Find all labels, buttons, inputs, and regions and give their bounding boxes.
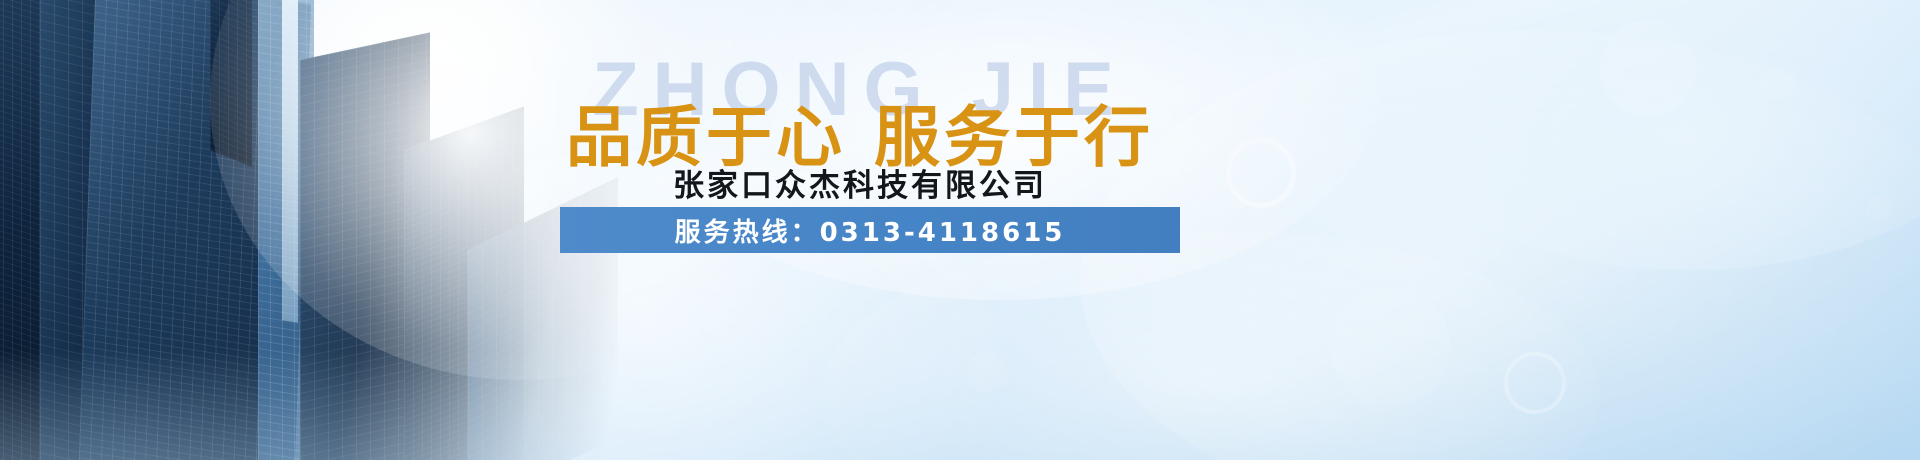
headline-phrase-2: 服务于行 (874, 99, 1154, 176)
cloud-wisp (1080, 30, 1920, 460)
bokeh-ring-right (1226, 138, 1296, 208)
hotline-text: 服务热线：0313-4118615 (675, 212, 1066, 249)
cloud-wisp (1380, 0, 1920, 270)
bokeh-ring-lower-right (1504, 352, 1566, 414)
hotline-bar[interactable]: 服务热线：0313-4118615 (560, 207, 1180, 253)
bokeh-large-right (1600, 20, 1696, 116)
bokeh-small-right-top (1760, 66, 1794, 100)
bokeh-small-center (966, 352, 1006, 392)
bokeh-tiny-far-right (1866, 196, 1892, 222)
cityscape-bottom-haze (0, 350, 640, 460)
cloud-wisp (620, 0, 1380, 300)
bokeh-bottom-right (1330, 286, 1450, 406)
cityscape-fade-mask (0, 0, 640, 460)
bokeh-mid-lower (704, 268, 792, 356)
cityscape-photo (0, 0, 640, 460)
cloud-wisp (820, 230, 1600, 460)
hero-banner: ZHONG JIE 品质于心服务于行 张家口众杰科技有限公司 服务热线：0313… (0, 0, 1920, 460)
